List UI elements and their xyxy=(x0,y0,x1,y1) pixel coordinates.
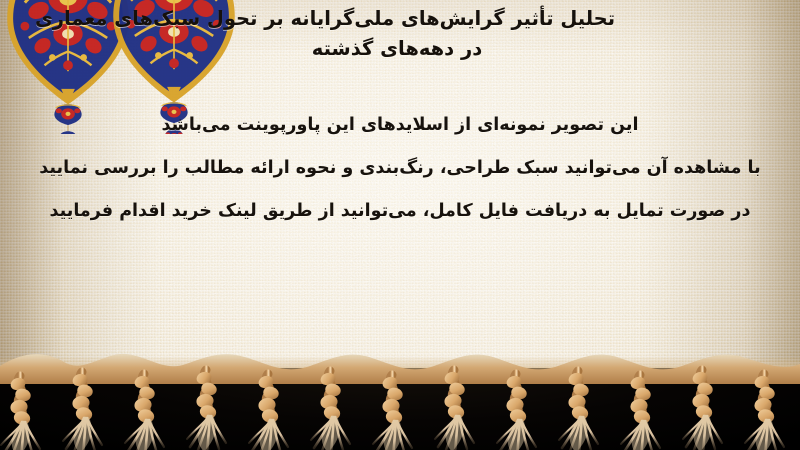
body-line-1: این تصویر نمونه‌ای از اسلایدهای این پاور… xyxy=(0,104,800,147)
body-line-3: در صورت تمایل به دریافت فایل کامل، می‌تو… xyxy=(0,190,800,233)
slide-body-text: این تصویر نمونه‌ای از اسلایدهای این پاور… xyxy=(0,104,800,233)
presentation-slide: تحلیل تأثیر گرایش‌های ملی‌گرایانه بر تحو… xyxy=(0,0,800,450)
knotted-tassel-fringe xyxy=(0,340,800,450)
slide-title: تحلیل تأثیر گرایش‌های ملی‌گرایانه بر تحو… xyxy=(0,4,800,63)
body-line-2: با مشاهده آن می‌توانید سبک طراحی، رنگ‌بن… xyxy=(0,147,800,190)
title-line-1: تحلیل تأثیر گرایش‌های ملی‌گرایانه بر تحو… xyxy=(0,4,800,34)
fringe-rope-header xyxy=(0,354,800,384)
title-line-2: در دهه‌های گذشته xyxy=(0,34,800,64)
